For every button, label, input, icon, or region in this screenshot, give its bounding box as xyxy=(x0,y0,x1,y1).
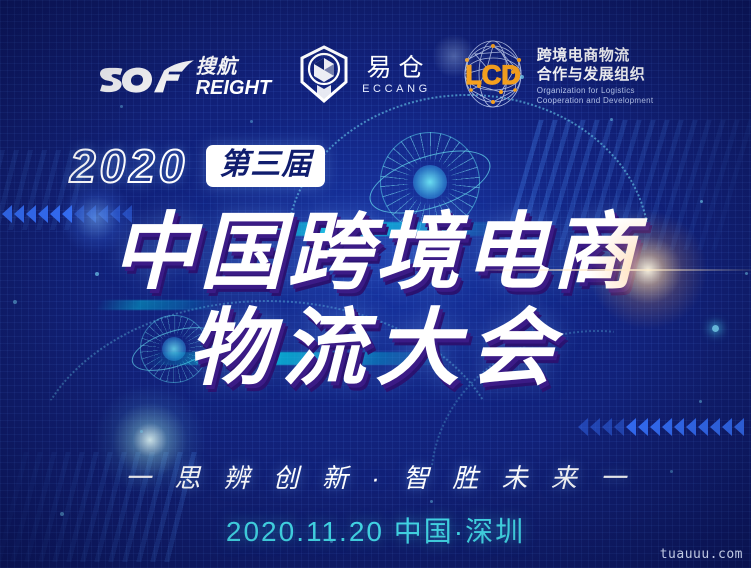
slogan-text: 一 思 辨 创 新 · 智 胜 未 来 一 xyxy=(0,458,751,495)
particle-dot xyxy=(140,430,143,433)
logo-lcd[interactable]: LCD 跨境电商物流 合作与发展组织 Organization for Logi… xyxy=(457,38,654,115)
lcd-cn-line1: 跨境电商物流 xyxy=(537,47,654,65)
lcd-en-line1: Organization for Logistics xyxy=(537,86,654,96)
conference-poster: 搜航 REIGHT 易仓 ECCANG xyxy=(0,0,751,568)
particle-dot xyxy=(430,500,433,503)
title-line-2: 物流大会 xyxy=(0,306,751,390)
eccang-cn-label: 易仓 xyxy=(359,55,430,81)
lcd-cn-line2: 合作与发展组织 xyxy=(537,66,654,84)
lcd-text: 跨境电商物流 合作与发展组织 Organization for Logistic… xyxy=(537,47,654,106)
edition-badge: 第三届 xyxy=(206,145,325,187)
lcd-wireframe-globe-icon: LCD xyxy=(457,38,529,115)
globe-core xyxy=(413,165,447,199)
page-title: 中国跨境电商 物流大会 xyxy=(0,210,751,390)
logo-sofreight[interactable]: 搜航 REIGHT xyxy=(98,56,272,98)
logo-eccang[interactable]: 易仓 ECCANG xyxy=(297,45,431,108)
eccang-en-label: ECCANG xyxy=(359,81,431,98)
chevron-row-right xyxy=(578,418,744,436)
sponsor-logo-bar: 搜航 REIGHT 易仓 ECCANG xyxy=(0,38,751,115)
sof-monogram-icon xyxy=(98,56,194,98)
year-edition-row: 2020 第三届 xyxy=(70,143,325,189)
title-line-1: 中国跨境电商 xyxy=(0,210,751,294)
particle-dot xyxy=(699,400,702,403)
sofreight-text: 搜航 REIGHT xyxy=(196,57,272,98)
eccang-hexagon-cube-icon xyxy=(297,45,351,108)
sofreight-en-label: REIGHT xyxy=(196,78,272,98)
lcd-abbr-label: LCD xyxy=(465,60,521,90)
particle-dot xyxy=(250,120,253,123)
year-label: 2020 xyxy=(70,143,188,189)
date-location-text: 2020.11.20 中国·深圳 xyxy=(0,510,751,550)
particle-dot xyxy=(700,200,703,203)
watermark-label: tuauuu.com xyxy=(660,547,743,562)
eccang-text: 易仓 ECCANG xyxy=(359,55,431,98)
lcd-en-line2: Cooperation and Development xyxy=(537,96,654,106)
particle-dot xyxy=(610,118,613,121)
sofreight-cn-label: 搜航 xyxy=(196,57,238,77)
